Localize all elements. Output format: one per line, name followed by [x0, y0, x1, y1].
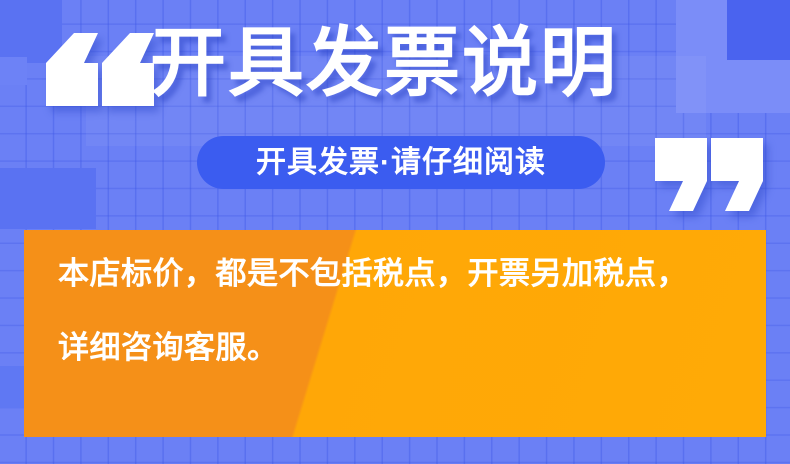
quote-open-icon [46, 33, 154, 111]
notice-panel-body: 本店标价，都是不包括税点，开票另加税点， 详细咨询客服。 [24, 230, 766, 437]
notice-panel: 本店标价，都是不包括税点，开票另加税点， 详细咨询客服。 [24, 230, 766, 437]
quote-close-icon [655, 138, 763, 216]
page-title: 开具发票说明 [150, 26, 618, 102]
decor-block-top-left-tab [0, 57, 27, 85]
decor-block-left-middle [0, 168, 96, 229]
notice-line-2: 详细咨询客服。 [58, 332, 732, 363]
subtitle-pill: 开具发票·请仔细阅读 [197, 136, 605, 189]
subtitle-pill-label: 开具发票·请仔细阅读 [256, 148, 546, 178]
notice-line-1: 本店标价，都是不包括税点，开票另加税点， [58, 258, 732, 289]
invoice-notice-banner: 开具发票说明 开具发票·请仔细阅读 本店标价，都是不包括税点，开票另加税点， 详… [0, 0, 790, 464]
decor-block-bottom-left [0, 366, 24, 408]
decor-block-top-right-dark [727, 0, 790, 60]
